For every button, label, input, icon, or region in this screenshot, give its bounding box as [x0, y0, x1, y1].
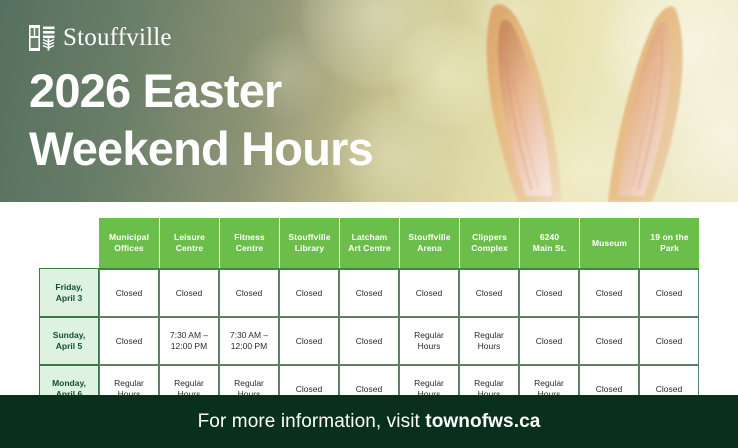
- table-row: Sunday,April 5Closed7:30 AM –12:00 PM7:3…: [39, 317, 699, 365]
- hours-cell-line-2: Hours: [418, 341, 441, 351]
- column-header-line-2: Offices: [114, 243, 144, 253]
- column-header-8: Museum: [579, 218, 639, 268]
- easter-hours-poster: Stouffville 2026 Easter Weekend Hours Mu…: [0, 0, 738, 448]
- column-header-line-2: Complex: [471, 243, 508, 253]
- column-header-line-1: Latcham: [352, 232, 388, 242]
- hero-banner: Stouffville 2026 Easter Weekend Hours: [0, 0, 738, 202]
- hours-cell: Closed: [339, 317, 399, 365]
- table-corner-cell: [39, 218, 99, 268]
- hours-cell-line-1: Closed: [356, 384, 382, 394]
- hours-cell-line-1: Regular: [234, 378, 264, 388]
- hours-cell: Closed: [279, 317, 339, 365]
- column-header-line-2: Main St.: [533, 243, 566, 253]
- footer-bar: For more information, visit townofws.ca: [0, 395, 738, 448]
- column-header-4: LatchamArt Centre: [339, 218, 399, 268]
- hours-cell-line-2: 12:00 PM: [231, 341, 267, 351]
- hours-cell: Closed: [279, 268, 339, 317]
- hours-cell-line-1: Regular: [534, 378, 564, 388]
- hours-cell: Closed: [519, 268, 579, 317]
- hours-cell: Closed: [579, 317, 639, 365]
- hours-cell: Closed: [579, 268, 639, 317]
- brand-logo: Stouffville: [29, 25, 172, 51]
- column-header-7: 6240Main St.: [519, 218, 579, 268]
- title-line-2: Weekend Hours: [29, 120, 489, 178]
- column-header-3: StouffvilleLibrary: [279, 218, 339, 268]
- hours-cell: 7:30 AM –12:00 PM: [219, 317, 279, 365]
- column-header-line-2: Arena: [417, 243, 442, 253]
- schedule-section: MunicipalOfficesLeisureCentreFitnessCent…: [0, 202, 738, 395]
- table-header-row: MunicipalOfficesLeisureCentreFitnessCent…: [39, 218, 699, 268]
- row-label-line-2: April 3: [56, 293, 82, 303]
- column-header-line-1: Leisure: [174, 232, 205, 242]
- hours-cell-line-1: 7:30 AM –: [170, 330, 208, 340]
- hours-cell: Closed: [219, 268, 279, 317]
- hours-cell-line-1: Closed: [656, 384, 682, 394]
- hours-cell-line-1: Closed: [536, 288, 562, 298]
- hours-cell-line-1: Closed: [596, 336, 622, 346]
- column-header-line-1: 19 on the: [650, 232, 688, 242]
- page-title: 2026 Easter Weekend Hours: [29, 62, 489, 178]
- column-header-line-1: Museum: [592, 238, 627, 248]
- row-label-line-1: Friday,: [55, 282, 82, 292]
- footer-website-link[interactable]: townofws.ca: [425, 411, 540, 432]
- column-header-6: ClippersComplex: [459, 218, 519, 268]
- hours-cell-line-1: Closed: [296, 384, 322, 394]
- hours-cell-line-1: Regular: [474, 330, 504, 340]
- row-label-line-2: April 5: [56, 341, 82, 351]
- hours-cell: RegularHours: [459, 317, 519, 365]
- hours-cell-line-1: Closed: [116, 288, 142, 298]
- column-header-line-2: Park: [660, 243, 679, 253]
- column-header-5: StouffvilleArena: [399, 218, 459, 268]
- hours-cell: Closed: [639, 317, 699, 365]
- column-header-9: 19 on thePark: [639, 218, 699, 268]
- hours-cell-line-1: Closed: [476, 288, 502, 298]
- column-header-line-2: Library: [295, 243, 325, 253]
- stouffville-leaf-logo-icon: [29, 25, 55, 51]
- hours-cell-line-1: Regular: [174, 378, 204, 388]
- hours-cell: Closed: [99, 268, 159, 317]
- column-header-line-2: Art Centre: [348, 243, 391, 253]
- table-row: Friday,April 3ClosedClosedClosedClosedCl…: [39, 268, 699, 317]
- footer-text: For more information, visit townofws.ca: [198, 411, 541, 433]
- hours-cell-line-1: Closed: [116, 336, 142, 346]
- hours-cell-line-2: Hours: [478, 341, 501, 351]
- hours-cell-line-1: Regular: [474, 378, 504, 388]
- column-header-line-1: Stouffville: [408, 232, 450, 242]
- hours-cell: Closed: [99, 317, 159, 365]
- hours-cell-line-1: Closed: [356, 288, 382, 298]
- hours-cell: Closed: [519, 317, 579, 365]
- hours-cell-line-1: Closed: [236, 288, 262, 298]
- hours-cell: 7:30 AM –12:00 PM: [159, 317, 219, 365]
- column-header-line-1: Fitness: [234, 232, 264, 242]
- hours-cell-line-1: Closed: [656, 336, 682, 346]
- row-label-0: Friday,April 3: [39, 268, 99, 317]
- brand-wordmark: Stouffville: [63, 25, 172, 51]
- row-label-line-1: Sunday,: [53, 330, 85, 340]
- hours-cell-line-1: Closed: [296, 288, 322, 298]
- hours-cell-line-1: Closed: [356, 336, 382, 346]
- hours-cell-line-1: Closed: [176, 288, 202, 298]
- column-header-line-1: 6240: [540, 232, 559, 242]
- column-header-line-1: Stouffville: [288, 232, 330, 242]
- row-label-line-1: Monday,: [52, 378, 86, 388]
- hours-cell-line-1: Closed: [536, 336, 562, 346]
- footer-prefix: For more information, visit: [198, 411, 426, 432]
- hours-cell-line-1: 7:30 AM –: [230, 330, 268, 340]
- column-header-line-1: Municipal: [109, 232, 149, 242]
- hours-cell: Closed: [399, 268, 459, 317]
- hours-cell: Closed: [159, 268, 219, 317]
- hours-cell-line-1: Closed: [416, 288, 442, 298]
- hours-cell-line-1: Closed: [596, 288, 622, 298]
- hours-cell-line-1: Closed: [296, 336, 322, 346]
- hours-cell-line-1: Regular: [414, 330, 444, 340]
- column-header-0: MunicipalOffices: [99, 218, 159, 268]
- hours-cell-line-2: 12:00 PM: [171, 341, 207, 351]
- hours-cell: Closed: [339, 268, 399, 317]
- hours-cell-line-1: Closed: [656, 288, 682, 298]
- hours-cell-line-1: Regular: [414, 378, 444, 388]
- column-header-2: FitnessCentre: [219, 218, 279, 268]
- hours-table: MunicipalOfficesLeisureCentreFitnessCent…: [39, 218, 699, 413]
- hours-cell-line-1: Regular: [114, 378, 144, 388]
- hours-cell: Closed: [459, 268, 519, 317]
- title-line-1: 2026 Easter: [29, 64, 282, 117]
- column-header-line-1: Clippers: [472, 232, 507, 242]
- row-label-1: Sunday,April 5: [39, 317, 99, 365]
- hours-cell-line-1: Closed: [596, 384, 622, 394]
- hours-cell: RegularHours: [399, 317, 459, 365]
- hours-cell: Closed: [639, 268, 699, 317]
- column-header-1: LeisureCentre: [159, 218, 219, 268]
- column-header-line-2: Centre: [236, 243, 264, 253]
- column-header-line-2: Centre: [176, 243, 204, 253]
